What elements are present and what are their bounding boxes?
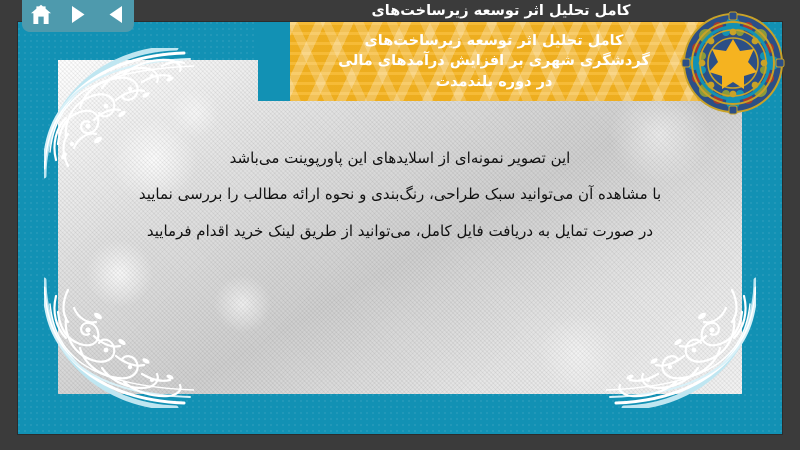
home-button[interactable] <box>27 1 55 27</box>
navigation-toolbar <box>22 0 134 32</box>
title-line-3: در دوره بلندمدت <box>436 72 553 93</box>
presentation-viewer: این تصویر نمونه‌ای از اسلایدهای این پاور… <box>0 0 800 450</box>
title-line-1: کامل تحلیل اثر توسعه زیرساخت‌های <box>365 31 624 52</box>
title-line-2: گردشگری شهری بر افزایش درآمدهای مالی <box>338 51 650 72</box>
body-line-1: این تصویر نمونه‌ای از اسلایدهای این پاور… <box>78 140 722 176</box>
slide-title: کامل تحلیل اثر توسعه زیرساخت‌های گردشگری… <box>258 22 710 101</box>
forward-button[interactable] <box>64 1 92 27</box>
home-icon <box>30 4 52 25</box>
back-triangle-icon <box>107 5 124 24</box>
back-button[interactable] <box>101 1 129 27</box>
title-line-1-overflow: کامل تحلیل اثر توسعه زیرساخت‌های <box>258 1 710 23</box>
body-line-3: در صورت تمایل به دریافت فایل کامل، می‌تو… <box>78 213 722 249</box>
forward-triangle-icon <box>71 5 86 24</box>
slide-body-text: این تصویر نمونه‌ای از اسلایدهای این پاور… <box>78 140 722 249</box>
slide-title-banner: کامل تحلیل اثر توسعه زیرساخت‌های گردشگری… <box>258 22 710 101</box>
body-line-2: با مشاهده آن می‌توانید سبک طراحی، رنگ‌بن… <box>78 176 722 212</box>
